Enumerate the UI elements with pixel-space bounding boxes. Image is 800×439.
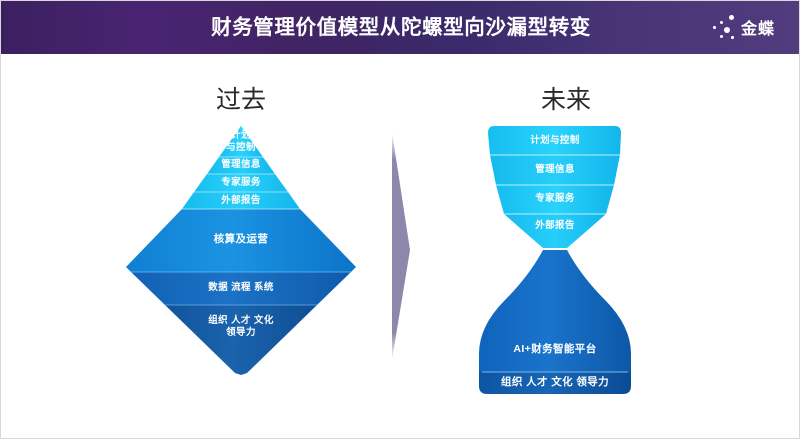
page-title: 财务管理价值模型从陀螺型向沙漏型转变 <box>1 1 800 54</box>
brand-logo-text: 金蝶 <box>741 15 775 39</box>
shape-diamond-past <box>126 126 356 375</box>
brand-logo: 金蝶 <box>711 12 785 42</box>
kingdee-dots-icon <box>711 12 739 42</box>
slide-body: 过去 未来 <box>1 54 800 439</box>
transition-arrow-icon <box>392 132 410 360</box>
diagram-shapes <box>1 54 800 439</box>
slide-canvas: 财务管理价值模型从陀螺型向沙漏型转变 金蝶 过去 未来 <box>0 0 800 439</box>
slide-header: 财务管理价值模型从陀螺型向沙漏型转变 金蝶 <box>1 1 800 54</box>
shape-hourglass-future <box>479 126 631 394</box>
